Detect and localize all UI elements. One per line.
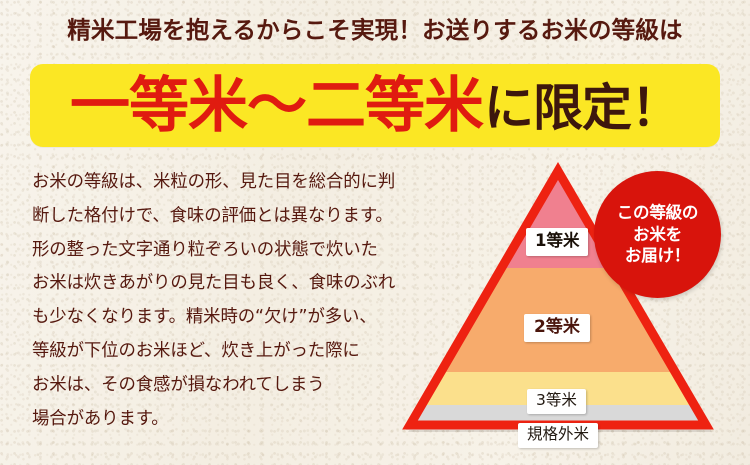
pyramid-label-kikakugai: 規格外米 — [518, 423, 598, 448]
delivery-badge: この等級の お米を お届け！ — [594, 171, 721, 298]
body-copy: お米の等級は、米粒の形、見た目を総合的に判 断した格付けで、食味の評価とは異なり… — [32, 166, 432, 436]
badge-line: この等級の — [617, 202, 699, 224]
copy-line: 断した格付けで、食味の評価とは異なります。 — [32, 200, 432, 234]
highlight-banner: 一等米〜二等米 に限定！ — [30, 64, 720, 147]
copy-line: 場合があります。 — [32, 403, 432, 437]
copy-line: 形の整った文字通り粒ぞろいの状態で炊いた — [32, 234, 432, 268]
copy-line: お米の等級は、米粒の形、見た目を総合的に判 — [32, 166, 432, 200]
pyramid-label-grade3: 3等米 — [527, 389, 586, 414]
page-headline: 精米工場を抱えるからこそ実現！お送りするお米の等級は — [0, 16, 750, 44]
badge-line: お米を — [633, 224, 682, 246]
badge-line: お届け！ — [625, 245, 690, 267]
copy-line: も少なくなります。精米時の“欠け”が多い、 — [32, 301, 432, 335]
copy-line: お米は、その食感が損なわれてしまう — [32, 369, 432, 403]
copy-line: 等級が下位のお米ほど、炊き上がった際に — [32, 335, 432, 369]
banner-secondary-text: に限定！ — [484, 83, 680, 133]
banner-primary-text: 一等米〜二等米 — [70, 76, 483, 136]
copy-line: お米は炊きあがりの見た目も良く、食味のぶれ — [32, 267, 432, 301]
pyramid-label-grade1: 1等米 — [526, 228, 588, 256]
pyramid-label-grade2: 2等米 — [524, 314, 590, 342]
